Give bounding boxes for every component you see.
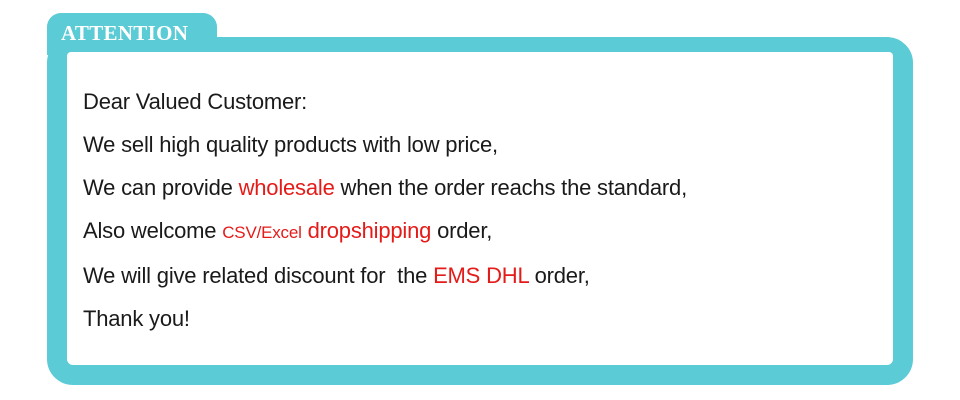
notice-text: We sell high quality products with low p… [83, 132, 498, 157]
notice-text: when the order reachs the standard, [335, 175, 687, 200]
notice-text: Also welcome [83, 218, 222, 243]
notice-text: We can provide [83, 175, 239, 200]
notice-text: We will give related discount for the [83, 263, 433, 288]
notice-text-block: Dear Valued Customer:We sell high qualit… [83, 80, 878, 340]
highlight-text: wholesale [239, 175, 335, 200]
notice-text: order, [431, 218, 492, 243]
notice-line: Dear Valued Customer: [83, 80, 878, 123]
notice-line: Also welcome CSV/Excel dropshipping orde… [83, 209, 878, 254]
notice-text: order, [529, 263, 590, 288]
notice-line: We will give related discount for the EM… [83, 254, 878, 297]
attention-banner: ATTENTION Dear Valued Customer:We sell h… [0, 0, 960, 400]
notice-line: Thank you! [83, 297, 878, 340]
notice-line: We sell high quality products with low p… [83, 123, 878, 166]
notice-text: Thank you! [83, 306, 190, 331]
attention-tab-label: ATTENTION [61, 20, 188, 46]
notice-line: We can provide wholesale when the order … [83, 166, 878, 209]
highlight-text: EMS DHL [433, 263, 529, 288]
highlight-text-small: CSV/Excel [222, 223, 301, 242]
highlight-text: dropshipping [308, 218, 432, 243]
attention-tab: ATTENTION [47, 13, 217, 55]
notice-panel: Dear Valued Customer:We sell high qualit… [67, 52, 893, 363]
notice-text: Dear Valued Customer: [83, 89, 307, 114]
